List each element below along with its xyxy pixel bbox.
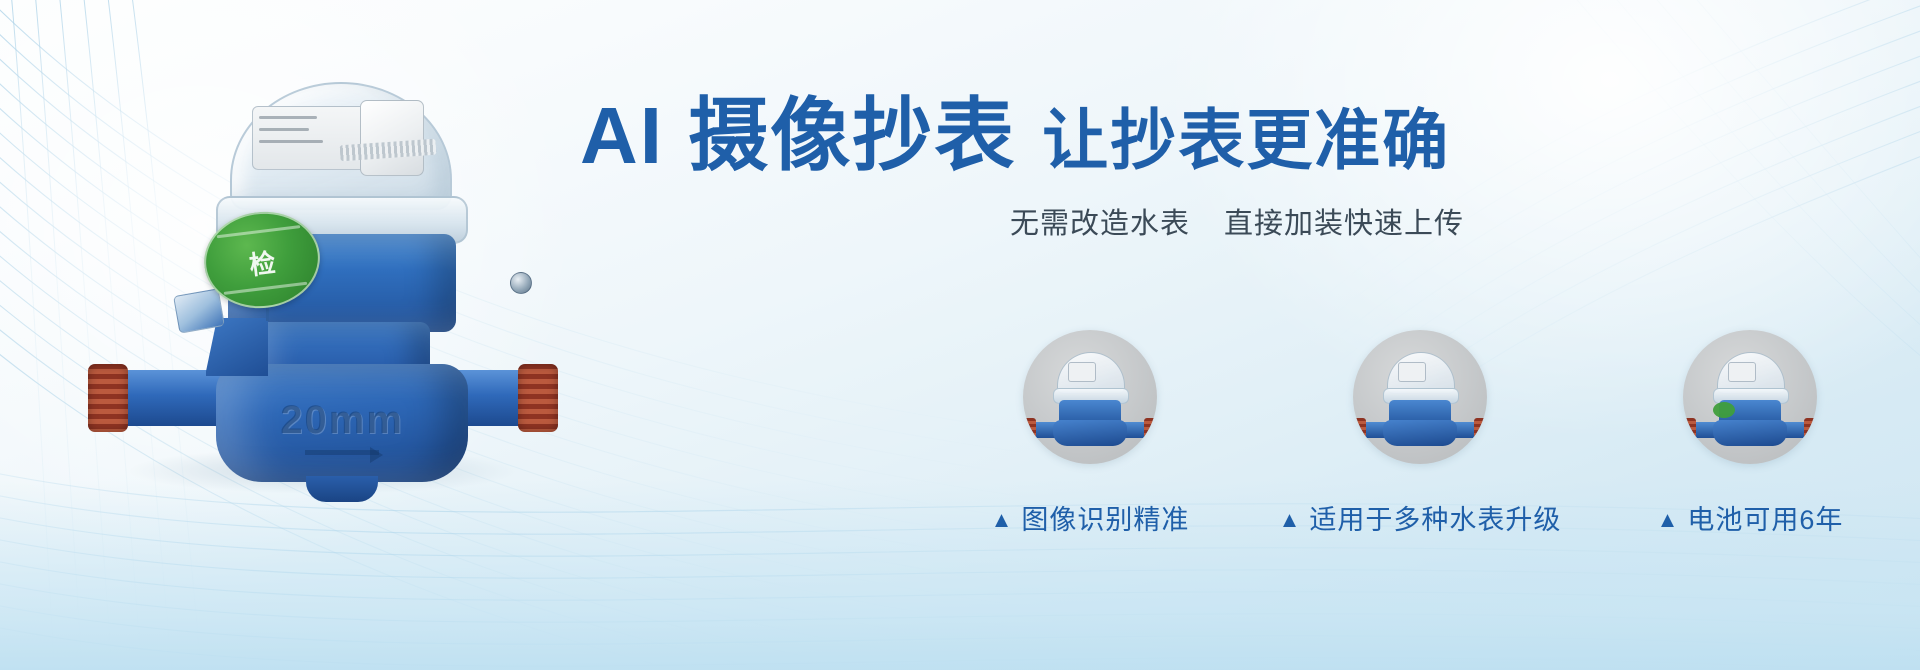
feature-thumbnail-2 [1353, 330, 1487, 464]
verification-sticker-text: 检 [204, 237, 320, 287]
product-sensor-probe [173, 288, 225, 333]
headline: AI 摄像抄表让抄表更准确 [580, 96, 1880, 176]
feature-thumbnail-1 [1023, 330, 1157, 464]
product-foot [306, 476, 378, 502]
product-dome-cover [230, 82, 452, 210]
subheadline-left: 无需改造水表 [1010, 208, 1190, 240]
feature-caption-3: ▲电池可用6年 [1600, 498, 1900, 537]
product-size-marking: 20mm [216, 398, 468, 443]
feature-item: ▲适用于多种水表升级 [1270, 330, 1570, 537]
product-body: 20mm [216, 364, 468, 482]
flow-arrow-icon [305, 450, 379, 455]
product-dial-window [252, 106, 374, 170]
feature-item: ▲图像识别精准 [940, 330, 1240, 537]
product-thread-right [518, 364, 558, 432]
triangle-marker-icon: ▲ [1279, 507, 1302, 533]
feature-caption-text-1: 图像识别精准 [1021, 505, 1189, 535]
feature-list: ▲图像识别精准 ▲适用于多种水表升级 [940, 330, 1900, 537]
mini-meter-illustration [1023, 330, 1157, 464]
headline-primary: AI 摄像抄表 [580, 91, 1016, 180]
main-product-image: 20mm 检 [88, 78, 558, 498]
mini-meter-illustration [1683, 330, 1817, 464]
headline-secondary: 让抄表更准确 [1042, 103, 1450, 177]
subheadline: 无需改造水表直接加装快速上传 [1010, 200, 1890, 242]
feature-caption-text-2: 适用于多种水表升级 [1309, 505, 1561, 535]
feature-caption-2: ▲适用于多种水表升级 [1270, 498, 1570, 537]
triangle-marker-icon: ▲ [1657, 507, 1680, 533]
feature-thumbnail-3 [1683, 330, 1817, 464]
mini-meter-illustration [1353, 330, 1487, 464]
feature-item: ▲电池可用6年 [1600, 330, 1900, 537]
feature-caption-1: ▲图像识别精准 [940, 498, 1240, 537]
product-camera-module [360, 100, 424, 176]
feature-caption-text-3: 电池可用6年 [1687, 505, 1843, 535]
product-label-lines [259, 116, 323, 152]
product-bolt [510, 272, 532, 294]
promo-banner: 20mm 检 AI 摄像抄表让抄表更准确 无需改造水表直接加装快速上传 [0, 0, 1920, 670]
triangle-marker-icon: ▲ [991, 507, 1014, 533]
subheadline-right: 直接加装快速上传 [1224, 208, 1464, 240]
product-thread-left [88, 364, 128, 432]
